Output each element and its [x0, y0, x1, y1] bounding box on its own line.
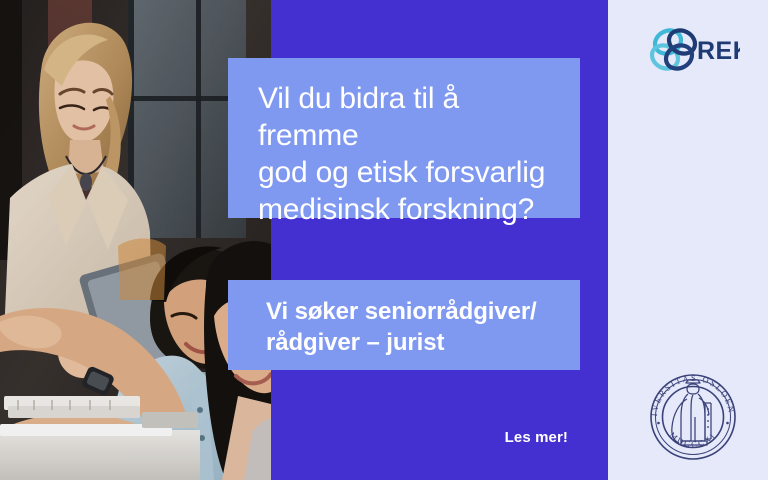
read-more-link[interactable]: Les mer! [228, 429, 568, 446]
rek-interlocking-rings-icon [648, 26, 699, 72]
headline-box: Vil du bidra til å fremme god og etisk f… [228, 58, 580, 218]
role-box: Vi søker seniorrådgiver/ rådgiver – juri… [228, 280, 580, 370]
uio-seal: UNIVERSITAS OSLOENSIS MDCCCXI [641, 365, 745, 469]
rek-logo[interactable]: REK [648, 26, 740, 72]
headline-text: Vil du bidra til å fremme god og etisk f… [258, 80, 554, 228]
job-advert-banner: Vil du bidra til å fremme god og etisk f… [0, 0, 768, 480]
role-text: Vi søker seniorrådgiver/ rådgiver – juri… [266, 296, 554, 358]
rek-wordmark: REK [697, 37, 740, 65]
